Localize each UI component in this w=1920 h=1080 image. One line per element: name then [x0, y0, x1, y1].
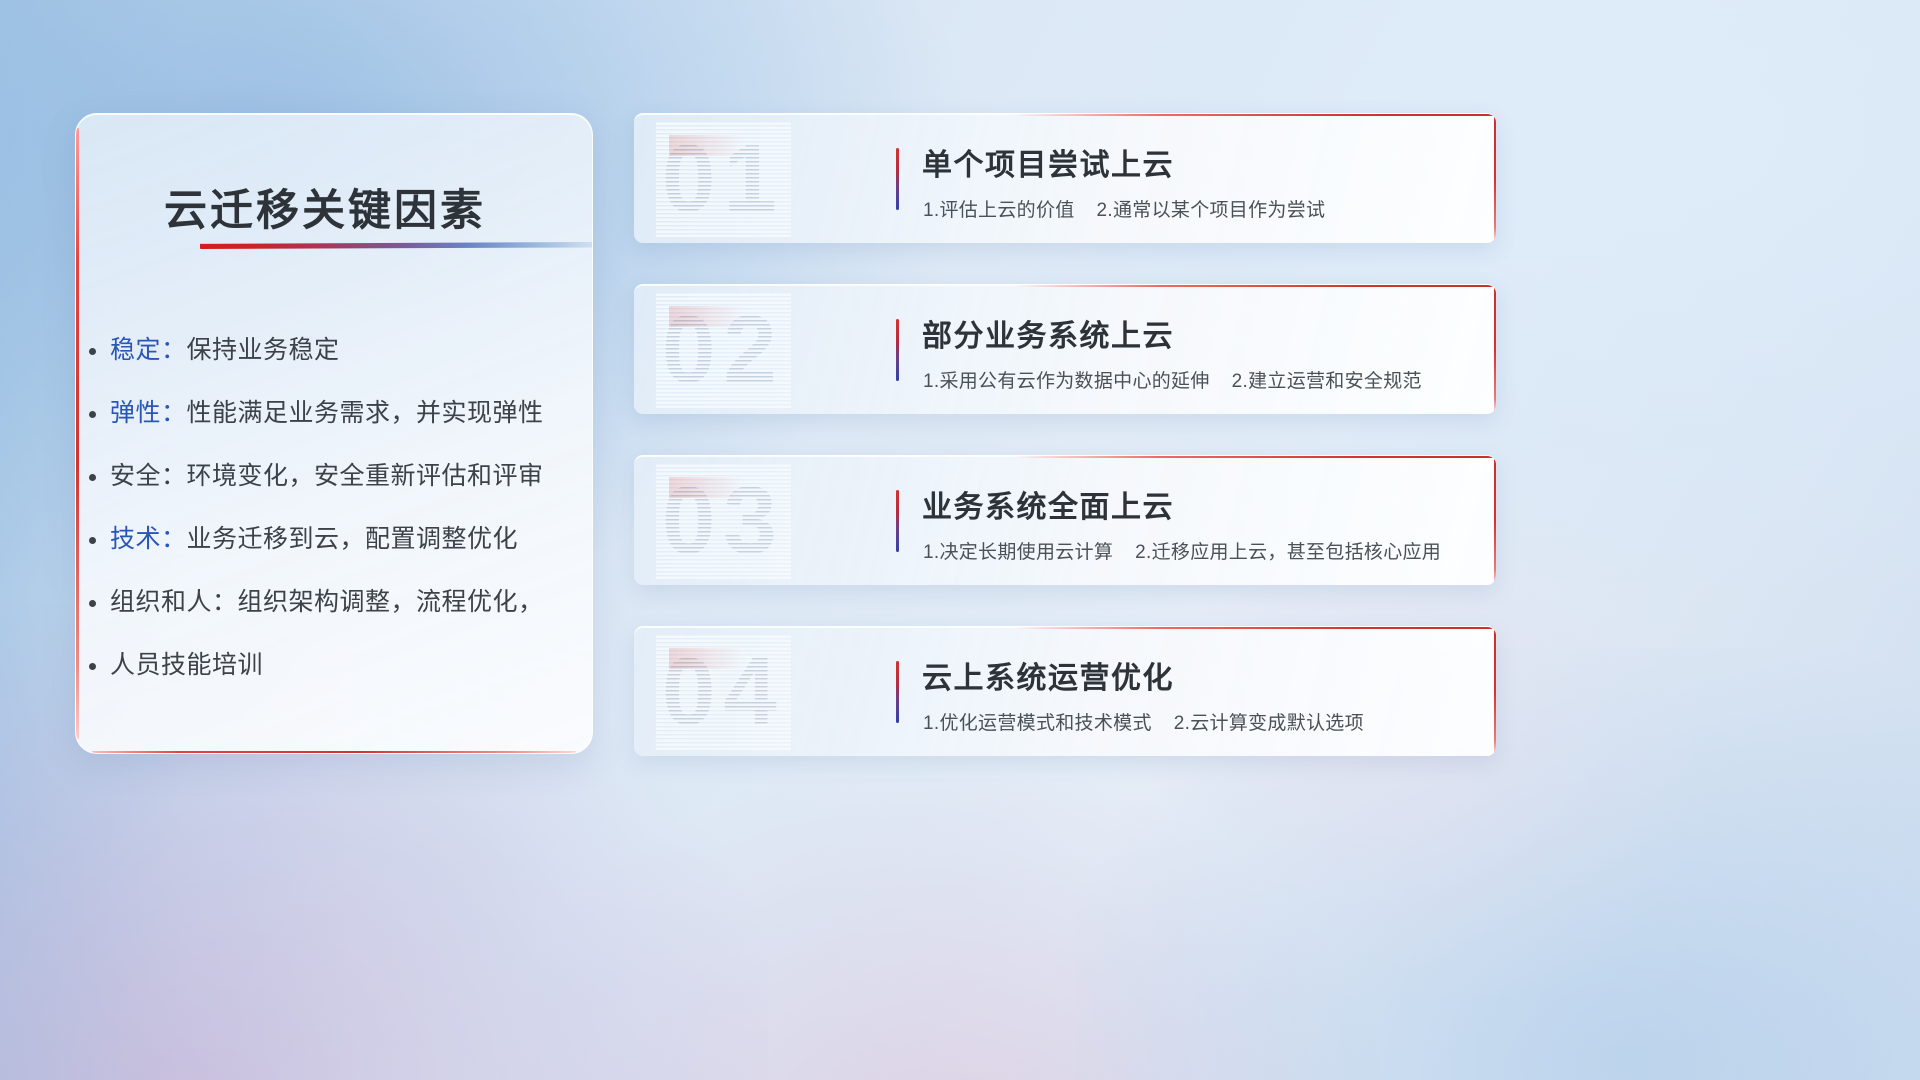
- stage-card[interactable]: 03业务系统全面上云1.决定长期使用云计算2.迁移应用上云，甚至包括核心应用: [634, 455, 1496, 585]
- stage-title: 部分业务系统上云: [922, 311, 1174, 355]
- key-factor-label: 稳定：: [110, 336, 187, 364]
- key-factor-label: 弹性：: [110, 399, 187, 427]
- stage-description-item-1: 1.采用公有云作为数据中心的延伸: [923, 371, 1210, 392]
- stage-number-decoration: 03: [662, 469, 785, 573]
- red-tint-overlay: [669, 648, 777, 669]
- stage-description-item-1: 1.决定长期使用云计算: [923, 542, 1113, 563]
- stage-card[interactable]: 02部分业务系统上云1.采用公有云作为数据中心的延伸2.建立运营和安全规范: [634, 284, 1496, 414]
- stage-number: 03: [662, 469, 785, 573]
- red-tint-overlay: [669, 306, 777, 327]
- key-factor-item: 人员技能培训: [110, 634, 570, 697]
- key-factors-panel: 云迁移关键因素 稳定：保持业务稳定弹性：性能满足业务需求，并实现弹性安全：环境变…: [75, 113, 593, 754]
- panel-title: 云迁移关键因素: [164, 176, 486, 238]
- stage-number: 01: [662, 127, 785, 231]
- stage-description: 1.采用公有云作为数据中心的延伸2.建立运营和安全规范: [923, 366, 1422, 393]
- gradient-divider-bar: [896, 148, 899, 210]
- stripe-overlay: [656, 463, 791, 579]
- key-factor-text: 性能满足业务需求，并实现弹性: [187, 399, 544, 427]
- stage-title: 单个项目尝试上云: [922, 140, 1174, 184]
- stage-title: 业务系统全面上云: [922, 482, 1174, 526]
- stage-description-item-2: 2.建立运营和安全规范: [1232, 371, 1422, 392]
- key-factor-text: 保持业务稳定: [187, 336, 340, 364]
- stage-card[interactable]: 04云上系统运营优化1.优化运营模式和技术模式2.云计算变成默认选项: [634, 626, 1496, 756]
- stage-title: 云上系统运营优化: [922, 653, 1174, 697]
- red-tint-overlay: [669, 477, 777, 498]
- red-tint-overlay: [669, 135, 777, 156]
- stage-number-decoration: 02: [662, 298, 785, 402]
- key-factor-item: 技术：业务迁移到云，配置调整优化: [110, 508, 570, 571]
- stage-description: 1.评估上云的价值2.通常以某个项目作为尝试: [923, 195, 1325, 222]
- stage-description: 1.优化运营模式和技术模式2.云计算变成默认选项: [923, 708, 1364, 735]
- key-factor-item: 安全：环境变化，安全重新评估和评审: [110, 445, 570, 508]
- stage-number: 02: [662, 298, 785, 402]
- stage-number-decoration: 04: [662, 640, 785, 744]
- title-underline-rule: [200, 242, 592, 249]
- key-factors-list: 稳定：保持业务稳定弹性：性能满足业务需求，并实现弹性安全：环境变化，安全重新评估…: [110, 319, 570, 697]
- stripe-overlay: [656, 634, 791, 750]
- key-factor-label: 技术：: [110, 525, 187, 553]
- gradient-divider-bar: [896, 319, 899, 381]
- stage-description-item-2: 2.云计算变成默认选项: [1174, 713, 1364, 734]
- key-factor-text: 组织架构调整，流程优化，: [238, 588, 544, 616]
- stage-description-item-1: 1.评估上云的价值: [923, 200, 1075, 221]
- key-factor-text: 环境变化，安全重新评估和评审: [187, 462, 544, 490]
- key-factor-item: 组织和人：组织架构调整，流程优化，: [110, 571, 570, 634]
- key-factor-label: 安全：: [110, 462, 187, 490]
- stage-description-item-2: 2.通常以某个项目作为尝试: [1097, 200, 1326, 221]
- stage-card[interactable]: 01单个项目尝试上云1.评估上云的价值2.通常以某个项目作为尝试: [634, 113, 1496, 243]
- gradient-divider-bar: [896, 661, 899, 723]
- key-factor-text: 人员技能培训: [110, 651, 263, 679]
- key-factor-label: 组织和人：: [110, 588, 238, 616]
- stage-number: 04: [662, 640, 785, 744]
- stripe-overlay: [656, 292, 791, 408]
- gradient-divider-bar: [896, 490, 899, 552]
- stage-description-item-1: 1.优化运营模式和技术模式: [923, 713, 1152, 734]
- key-factor-item: 弹性：性能满足业务需求，并实现弹性: [110, 382, 570, 445]
- stage-description-item-2: 2.迁移应用上云，甚至包括核心应用: [1135, 542, 1441, 563]
- cloud-migration-stages: 01单个项目尝试上云1.评估上云的价值2.通常以某个项目作为尝试02部分业务系统…: [634, 113, 1496, 797]
- key-factor-text: 业务迁移到云，配置调整优化: [187, 525, 519, 553]
- stripe-overlay: [656, 121, 791, 237]
- stage-number-decoration: 01: [662, 127, 785, 231]
- stage-description: 1.决定长期使用云计算2.迁移应用上云，甚至包括核心应用: [923, 537, 1441, 564]
- key-factor-item: 稳定：保持业务稳定: [110, 319, 570, 382]
